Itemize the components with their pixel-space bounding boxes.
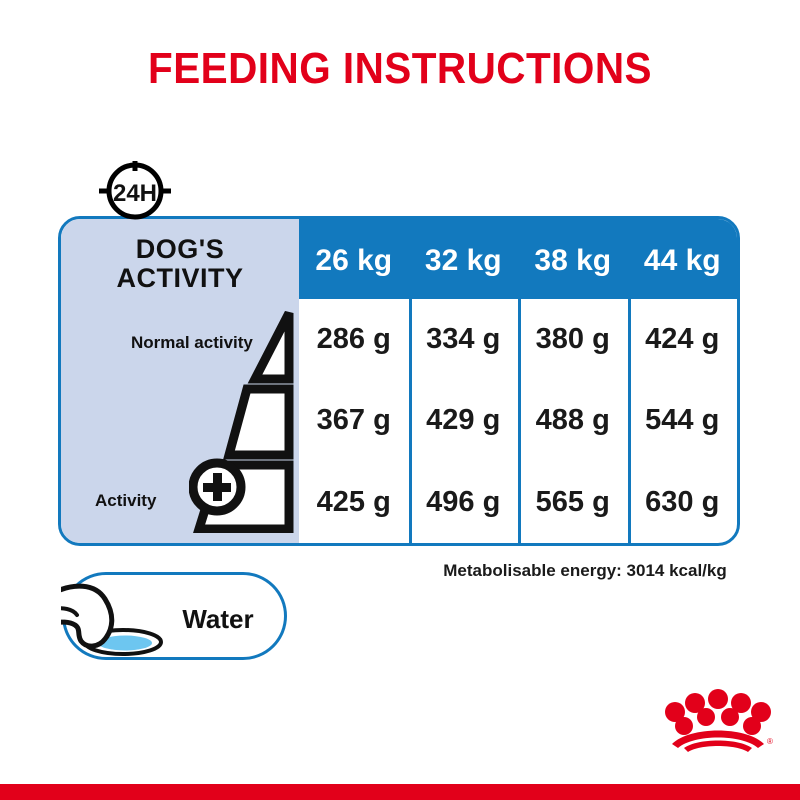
cell-32kg-moderate: 429 g <box>409 380 519 461</box>
cell-32kg-normal: 334 g <box>409 299 519 380</box>
activity-column: DOG'S ACTIVITY Normal activity Activity <box>61 219 299 543</box>
activity-label-plus: Activity <box>95 491 156 511</box>
activity-steps-graphic <box>189 311 301 533</box>
weight-header-32kg: 32 kg <box>409 219 519 299</box>
cell-38kg-normal: 380 g <box>518 299 628 380</box>
weight-header-38kg: 38 kg <box>518 219 628 299</box>
royal-canin-crown-logo: ® <box>662 686 774 756</box>
column-26kg: 286 g 367 g 425 g <box>299 299 409 543</box>
metabolisable-energy-note: Metabolisable energy: 3014 kcal/kg <box>420 561 750 581</box>
activity-staircase-icon <box>189 311 301 533</box>
cell-44kg-normal: 424 g <box>628 299 738 380</box>
column-44kg: 424 g 544 g 630 g <box>628 299 738 543</box>
cell-38kg-plus: 565 g <box>518 462 628 543</box>
column-32kg: 334 g 429 g 496 g <box>409 299 519 543</box>
cell-44kg-moderate: 544 g <box>628 380 738 461</box>
activity-header-line-2: ACTIVITY <box>61 264 299 293</box>
cell-44kg-plus: 630 g <box>628 462 738 543</box>
column-38kg: 380 g 488 g 565 g <box>518 299 628 543</box>
page-title: FEEDING INSTRUCTIONS <box>32 44 768 94</box>
registered-trademark-mark: ® <box>767 737 773 746</box>
cell-26kg-normal: 286 g <box>299 299 409 380</box>
cell-26kg-plus: 425 g <box>299 462 409 543</box>
activity-header-line-1: DOG'S <box>61 235 299 264</box>
weight-header-row: 26 kg 32 kg 38 kg 44 kg <box>299 219 737 299</box>
weight-header-26kg: 26 kg <box>299 219 409 299</box>
water-label: Water <box>163 604 273 635</box>
cell-32kg-plus: 496 g <box>409 462 519 543</box>
cell-26kg-moderate: 367 g <box>299 380 409 461</box>
feeding-values-grid: 286 g 367 g 425 g 334 g 429 g 496 g 380 … <box>299 299 737 543</box>
clock-24h-badge: 24H <box>95 161 175 223</box>
cell-38kg-moderate: 488 g <box>518 380 628 461</box>
bottom-red-bar <box>0 784 800 800</box>
water-card: Water <box>62 572 287 660</box>
feeding-table: DOG'S ACTIVITY Normal activity Activity … <box>58 216 740 546</box>
clock-24h-label: 24H <box>113 180 157 207</box>
activity-column-header: DOG'S ACTIVITY <box>61 235 299 292</box>
weight-header-44kg: 44 kg <box>628 219 738 299</box>
clock-24h-icon: 24H <box>95 161 175 223</box>
